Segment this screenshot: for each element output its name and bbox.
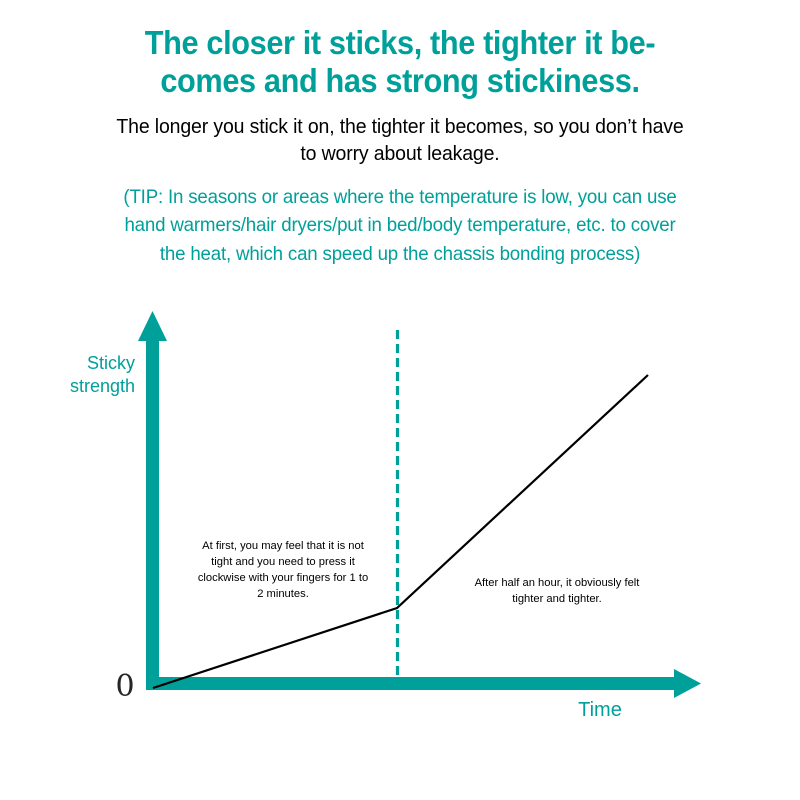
- annotation-early-phase: At first, you may feel that it is not ti…: [163, 539, 403, 603]
- y-axis-label: Sticky strength: [0, 352, 135, 397]
- y-axis-shaft: [146, 338, 159, 690]
- x-axis-label: Time: [540, 699, 660, 722]
- x-axis-shaft: [146, 677, 680, 690]
- infographic-page: The closer it sticks, the tighter it be-…: [0, 0, 800, 800]
- y-axis-arrowhead: [138, 311, 167, 341]
- origin-label: 0: [110, 672, 140, 702]
- sticky-strength-line: [153, 375, 648, 688]
- annotation-late-phase: After half an hour, it obviously felt ti…: [437, 576, 677, 608]
- x-axis-arrowhead: [674, 669, 701, 698]
